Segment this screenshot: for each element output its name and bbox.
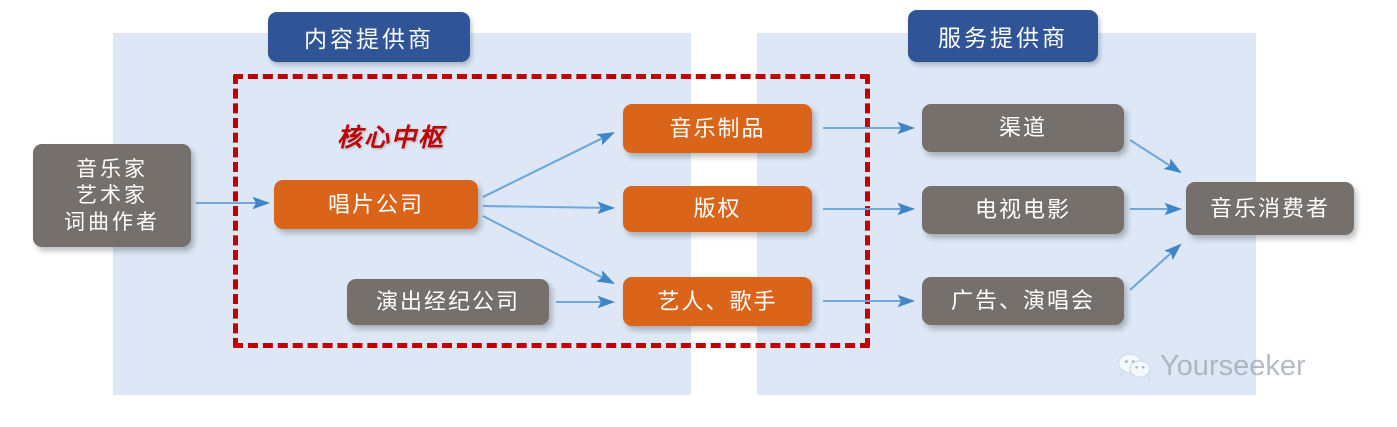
node-creators: 音乐家 艺术家 词曲作者 xyxy=(33,144,191,247)
node-tv-film: 电视电影 xyxy=(922,186,1124,234)
node-creators-line-2: 艺术家 xyxy=(76,182,148,208)
core-hub-label: 核心中枢 xyxy=(337,118,445,154)
node-artists-singers: 艺人、歌手 xyxy=(623,277,812,326)
node-creators-line-3: 词曲作者 xyxy=(64,209,160,235)
header-service-provider: 服务提供商 xyxy=(908,10,1098,62)
node-ads-concerts: 广告、演唱会 xyxy=(922,277,1124,325)
header-content-provider: 内容提供商 xyxy=(268,12,470,62)
wechat-icon xyxy=(1118,353,1152,381)
node-music-products: 音乐制品 xyxy=(623,104,812,153)
node-copyright: 版权 xyxy=(623,186,812,232)
watermark-text: Yourseeker xyxy=(1160,350,1306,383)
node-record-label: 唱片公司 xyxy=(274,180,478,229)
node-creators-line-1: 音乐家 xyxy=(76,156,148,182)
node-performance-agency: 演出经纪公司 xyxy=(347,279,549,325)
node-music-consumers: 音乐消费者 xyxy=(1186,182,1354,235)
watermark: Yourseeker xyxy=(1118,350,1306,383)
node-channels: 渠道 xyxy=(922,104,1124,152)
diagram-canvas: 核心中枢 内容提供商 服务提供商 xyxy=(0,0,1397,427)
